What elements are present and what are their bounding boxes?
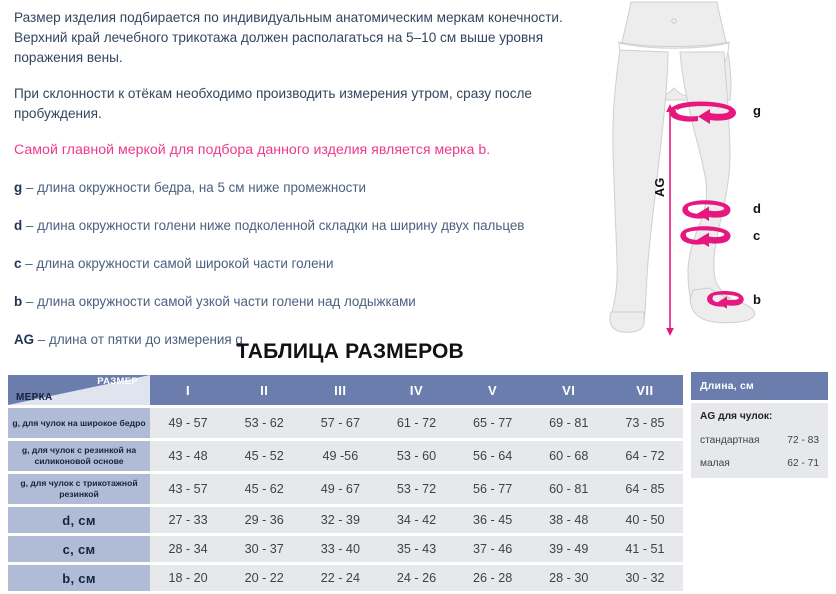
- cell-r0c0: 49 - 57: [150, 408, 226, 438]
- column-header-1: I: [150, 375, 226, 405]
- cell-r3c1: 29 - 36: [226, 507, 302, 533]
- definition-key-d: d: [14, 218, 22, 233]
- cell-r2c1: 45 - 62: [226, 474, 302, 504]
- figure-label-d: d: [753, 201, 761, 216]
- length-panel-header: Длина, см: [691, 372, 828, 400]
- cell-r4c3: 35 - 43: [378, 536, 454, 562]
- cell-r5c0: 18 - 20: [150, 565, 226, 591]
- row-label-g-knit-band: g, для чулок с трикотажной резинкой: [8, 474, 150, 504]
- size-table-head: РАЗМЕР МЕРКА I II III IV V VI VII: [8, 375, 683, 405]
- cell-r3c0: 27 - 33: [150, 507, 226, 533]
- cell-r1c0: 43 - 48: [150, 441, 226, 471]
- female-legs-illustration: [598, 0, 836, 340]
- cell-r0c4: 65 - 77: [455, 408, 531, 438]
- corner-measure-label: МЕРКА: [16, 392, 53, 403]
- cell-r2c4: 56 - 77: [455, 474, 531, 504]
- definition-dash-c: –: [25, 256, 32, 271]
- column-header-2: II: [226, 375, 302, 405]
- figure-label-c: c: [753, 228, 760, 243]
- leg-measurement-diagram: g d c b AG: [598, 0, 836, 340]
- column-header-5: V: [455, 375, 531, 405]
- table-row: g, для чулок на широкое бедро 49 - 57 53…: [8, 408, 683, 438]
- table-row: g, для чулок с резинкой на силиконовой о…: [8, 441, 683, 471]
- column-header-3: III: [302, 375, 378, 405]
- cell-r2c0: 43 - 57: [150, 474, 226, 504]
- row-label-g-silicone-band: g, для чулок с резинкой на силиконовой о…: [8, 441, 150, 471]
- cell-r3c2: 32 - 39: [302, 507, 378, 533]
- cell-r5c5: 28 - 30: [531, 565, 607, 591]
- cell-r5c6: 30 - 32: [607, 565, 683, 591]
- cell-r0c6: 73 - 85: [607, 408, 683, 438]
- definition-b: b – длина окружности самой узкой части г…: [14, 293, 614, 311]
- cell-r4c6: 41 - 51: [607, 536, 683, 562]
- cell-r0c2: 57 - 67: [302, 408, 378, 438]
- cell-r4c2: 33 - 40: [302, 536, 378, 562]
- figure-label-g: g: [753, 103, 761, 118]
- definition-c: c – длина окружности самой широкой части…: [14, 255, 614, 273]
- cell-r3c4: 36 - 45: [455, 507, 531, 533]
- intro-paragraph-1: Размер изделия подбирается по индивидуал…: [14, 8, 614, 68]
- definition-g: g – длина окружности бедра, на 5 см ниже…: [14, 179, 614, 197]
- cell-r1c4: 56 - 64: [455, 441, 531, 471]
- cell-r3c3: 34 - 42: [378, 507, 454, 533]
- cell-r0c5: 69 - 81: [531, 408, 607, 438]
- length-row-small: малая 62 - 71: [700, 458, 819, 469]
- size-table: РАЗМЕР МЕРКА I II III IV V VI VII g, для…: [8, 372, 683, 594]
- definition-key-g: g: [14, 180, 22, 195]
- column-header-6: VI: [531, 375, 607, 405]
- column-header-7: VII: [607, 375, 683, 405]
- length-row-standard-value: 72 - 83: [787, 435, 819, 446]
- cell-r1c2: 49 -56: [302, 441, 378, 471]
- ag-measure-arrow: [666, 104, 674, 336]
- c-measure-arrow: [680, 226, 730, 247]
- length-panel: Длина, см AG для чулок: стандартная 72 -…: [691, 372, 828, 478]
- cell-r4c5: 39 - 49: [531, 536, 607, 562]
- size-table-header-row: РАЗМЕР МЕРКА I II III IV V VI VII: [8, 375, 683, 405]
- row-label-c: c, см: [8, 536, 150, 562]
- instructions-column: Размер изделия подбирается по индивидуал…: [14, 8, 614, 369]
- table-row: c, см 28 - 34 30 - 37 33 - 40 35 - 43 37…: [8, 536, 683, 562]
- cell-r1c1: 45 - 52: [226, 441, 302, 471]
- length-row-small-value: 62 - 71: [787, 458, 819, 469]
- cell-r5c1: 20 - 22: [226, 565, 302, 591]
- cell-r5c4: 26 - 28: [455, 565, 531, 591]
- column-header-4: IV: [378, 375, 454, 405]
- intro-paragraph-2: При склонности к отёкам необходимо произ…: [14, 84, 614, 124]
- table-title: ТАБЛИЦА РАЗМЕРОВ: [0, 340, 700, 364]
- definition-text-g: длина окружности бедра, на 5 см ниже про…: [37, 180, 366, 195]
- cell-r1c3: 53 - 60: [378, 441, 454, 471]
- cell-r5c2: 22 - 24: [302, 565, 378, 591]
- cell-r2c2: 49 - 67: [302, 474, 378, 504]
- length-panel-title: AG для чулок:: [700, 411, 819, 422]
- table-row: g, для чулок с трикотажной резинкой 43 -…: [8, 474, 683, 504]
- cell-r0c1: 53 - 62: [226, 408, 302, 438]
- length-row-standard-name: стандартная: [700, 435, 759, 446]
- cell-r1c5: 60 - 68: [531, 441, 607, 471]
- definition-text-c: длина окружности самой широкой части гол…: [36, 256, 333, 271]
- row-label-d: d, см: [8, 507, 150, 533]
- cell-r2c5: 60 - 81: [531, 474, 607, 504]
- definition-d: d – длина окружности голени ниже подколе…: [14, 217, 614, 235]
- row-label-g-wide-thigh: g, для чулок на широкое бедро: [8, 408, 150, 438]
- cell-r4c0: 28 - 34: [150, 536, 226, 562]
- measurement-definitions: g – длина окружности бедра, на 5 см ниже…: [14, 179, 614, 349]
- figure-label-b: b: [753, 292, 761, 307]
- corner-size-label: РАЗМЕР: [97, 376, 138, 387]
- definition-dash-d: –: [26, 218, 33, 233]
- table-row: d, см 27 - 33 29 - 36 32 - 39 34 - 42 36…: [8, 507, 683, 533]
- cell-r2c6: 64 - 85: [607, 474, 683, 504]
- cell-r2c3: 53 - 72: [378, 474, 454, 504]
- figure-label-ag: AG: [653, 177, 667, 197]
- length-row-small-name: малая: [700, 458, 730, 469]
- cell-r4c4: 37 - 46: [455, 536, 531, 562]
- definition-dash-g: –: [26, 180, 33, 195]
- length-panel-body: AG для чулок: стандартная 72 - 83 малая …: [691, 403, 828, 478]
- highlight-note: Самой главной меркой для подбора данного…: [14, 140, 614, 160]
- cell-r1c6: 64 - 72: [607, 441, 683, 471]
- size-table-body: g, для чулок на широкое бедро 49 - 57 53…: [8, 408, 683, 591]
- length-row-standard: стандартная 72 - 83: [700, 435, 819, 446]
- definition-text-d: длина окружности голени ниже подколенной…: [37, 218, 524, 233]
- definition-key-c: c: [14, 256, 21, 271]
- cell-r4c1: 30 - 37: [226, 536, 302, 562]
- definition-key-b: b: [14, 294, 22, 309]
- row-label-b: b, см: [8, 565, 150, 591]
- d-measure-arrow: [682, 200, 730, 221]
- size-table-wrapper: РАЗМЕР МЕРКА I II III IV V VI VII g, для…: [8, 372, 683, 594]
- table-row: b, см 18 - 20 20 - 22 22 - 24 24 - 26 26…: [8, 565, 683, 591]
- body-silhouette: [610, 2, 755, 332]
- cell-r3c6: 40 - 50: [607, 507, 683, 533]
- cell-r5c3: 24 - 26: [378, 565, 454, 591]
- size-chart-page: Размер изделия подбирается по индивидуал…: [0, 0, 836, 571]
- definition-text-b: длина окружности самой узкой части голен…: [37, 294, 416, 309]
- definition-dash-b: –: [26, 294, 33, 309]
- cell-r0c3: 61 - 72: [378, 408, 454, 438]
- cell-r3c5: 38 - 48: [531, 507, 607, 533]
- table-corner-header: РАЗМЕР МЕРКА: [8, 375, 150, 405]
